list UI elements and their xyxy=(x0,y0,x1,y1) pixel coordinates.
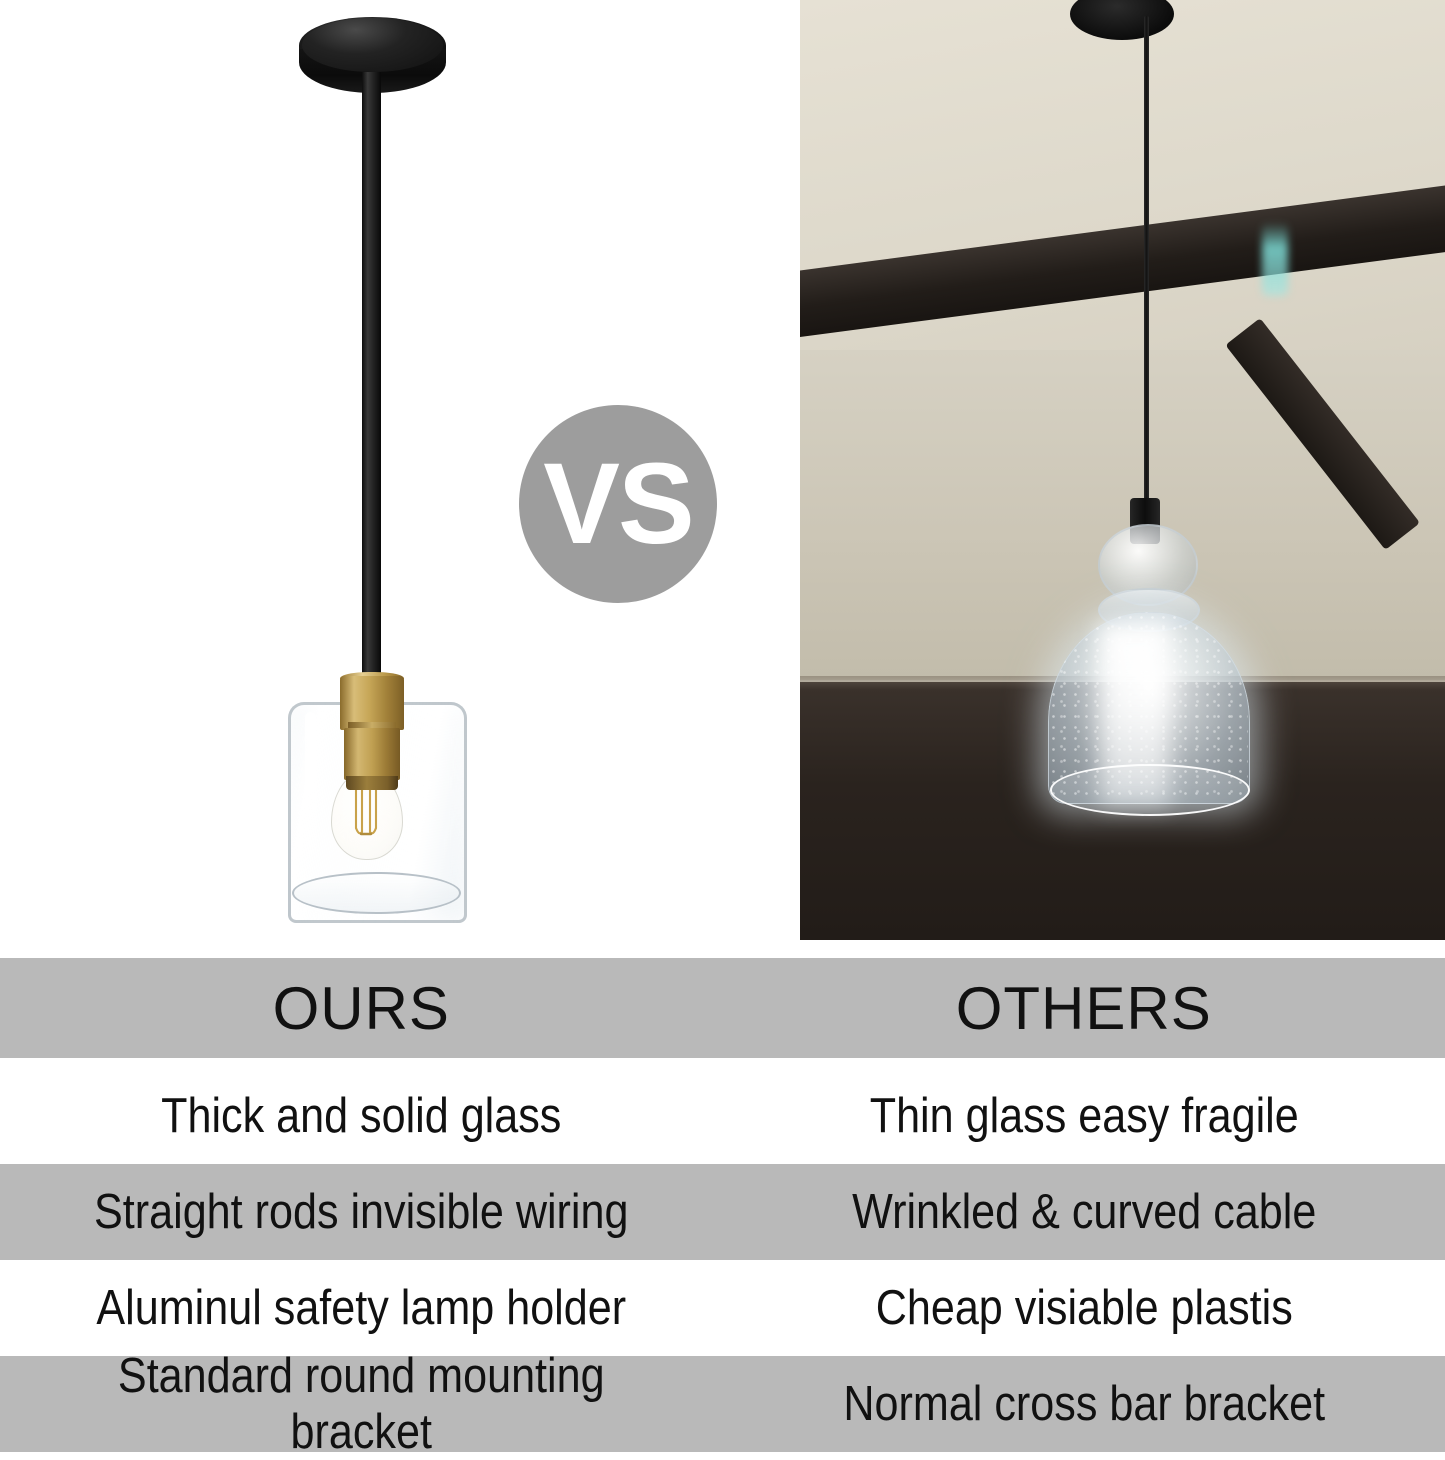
vs-label: VS xyxy=(543,447,692,562)
brass-socket-lower xyxy=(344,728,400,780)
photo-teal-reflection xyxy=(1262,222,1288,296)
brass-socket-base xyxy=(346,776,398,790)
vs-badge: VS xyxy=(519,405,717,603)
ours-feature-1: Thick and solid glass xyxy=(43,1088,679,1144)
glass-bottom-rim xyxy=(292,872,461,914)
others-feature-4: Normal cross bar bracket xyxy=(766,1376,1402,1432)
table-row: Standard round mounting bracket Normal c… xyxy=(0,1356,1445,1452)
others-feature-2: Wrinkled & curved cable xyxy=(766,1184,1402,1240)
comparison-infographic: VS OURS OTHERS xyxy=(0,0,1445,1445)
table-row: Thick and solid glass Thin glass easy fr… xyxy=(0,1068,1445,1164)
canopy-face xyxy=(302,18,443,72)
filament-icon xyxy=(348,782,384,844)
comparison-table: OURS OTHERS Thick and solid glass Thin g… xyxy=(0,958,1445,1445)
header-ours: OURS xyxy=(0,974,723,1043)
pendant-rod xyxy=(362,72,381,692)
header-others: OTHERS xyxy=(723,974,1445,1043)
ours-feature-3: Aluminul safety lamp holder xyxy=(43,1280,679,1336)
glass-highlight xyxy=(305,712,316,902)
others-feature-3: Cheap visiable plastis xyxy=(766,1280,1402,1336)
others-feature-1: Thin glass easy fragile xyxy=(766,1088,1402,1144)
others-product-photo xyxy=(800,0,1445,940)
ours-feature-2: Straight rods invisible wiring xyxy=(43,1184,679,1240)
ours-feature-4: Standard round mounting bracket xyxy=(43,1348,679,1460)
hero-images: VS xyxy=(0,0,1445,958)
header-divider xyxy=(0,1058,1445,1068)
photo-shade-rim xyxy=(1050,764,1250,816)
photo-hanging-cable xyxy=(1144,16,1149,506)
table-row: Straight rods invisible wiring Wrinkled … xyxy=(0,1164,1445,1260)
table-row: Aluminul safety lamp holder Cheap visiab… xyxy=(0,1260,1445,1356)
table-header-row: OURS OTHERS xyxy=(0,958,1445,1058)
